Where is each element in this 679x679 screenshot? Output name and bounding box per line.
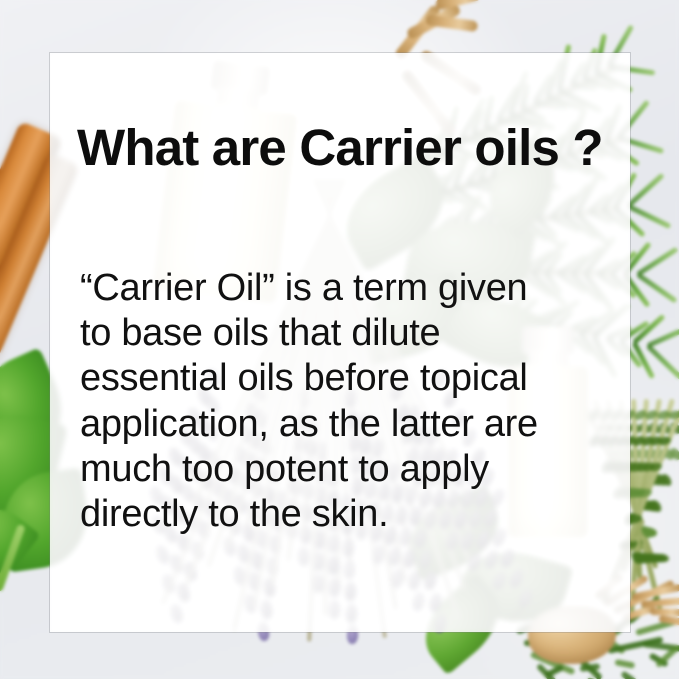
body-line: application, as the latter are bbox=[80, 402, 608, 447]
body-line: much too potent to apply bbox=[80, 447, 608, 492]
body-line: essential oils before topical bbox=[80, 356, 608, 401]
body-line: directly to the skin. bbox=[80, 492, 608, 537]
body-paragraph: “Carrier Oil” is a term given to base oi… bbox=[80, 266, 608, 537]
body-line: to base oils that dilute bbox=[80, 311, 608, 356]
text-content: What are Carrier oils ? “Carrier Oil” is… bbox=[0, 0, 679, 679]
page-title: What are Carrier oils ? bbox=[77, 122, 617, 174]
infographic-canvas: What are Carrier oils ? “Carrier Oil” is… bbox=[0, 0, 679, 679]
body-line: “Carrier Oil” is a term given bbox=[80, 266, 608, 311]
